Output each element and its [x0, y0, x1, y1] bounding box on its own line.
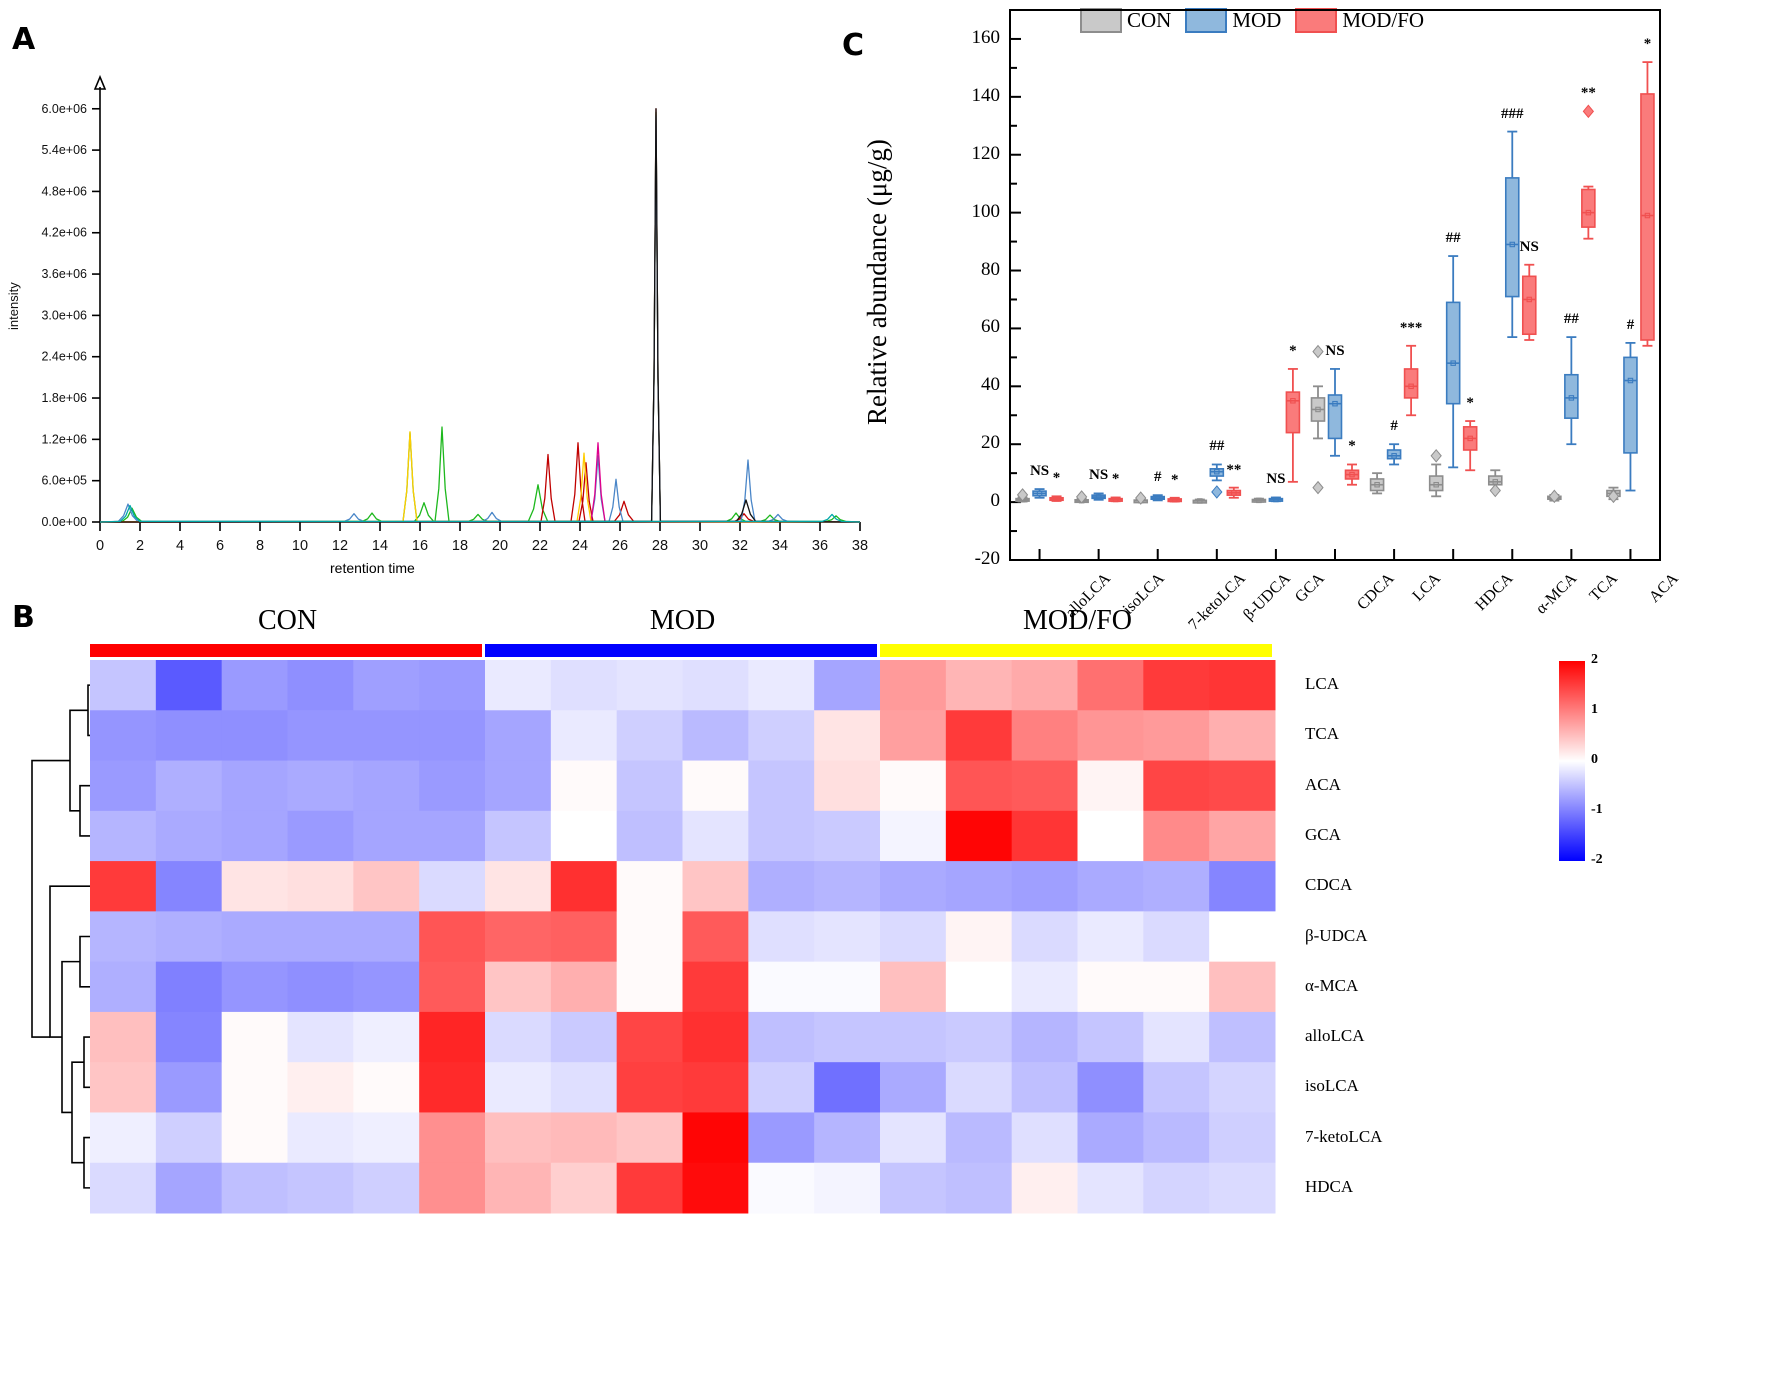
panel-b-group-bar-CON [90, 644, 482, 657]
panel-b-letter: B [12, 600, 35, 635]
panel-b-heat-cell [551, 761, 617, 812]
panel-b-heat-cell [551, 962, 617, 1013]
panel-a-ytick-label: 3.6e+06 [41, 267, 87, 281]
panel-b-heat-cell [1078, 911, 1144, 962]
panel-b-heat-cell [946, 761, 1012, 812]
panel-b-heat-cell [1209, 1062, 1275, 1113]
panel-b-heat-cell [683, 660, 749, 711]
panel-b-heat-cell [617, 1112, 683, 1163]
panel-b-heat-cell [156, 710, 222, 761]
panel-b-colorbar [1555, 655, 1695, 885]
panel-b-heat-cell [353, 861, 419, 912]
panel-b-heat-cell [1078, 962, 1144, 1013]
panel-b-heat-cell [353, 1112, 419, 1163]
panel-b-colorbar-gradient [1559, 661, 1585, 861]
panel-b-heat-cell [683, 911, 749, 962]
panel-a-xtick-label: 30 [692, 538, 708, 554]
panel-b-heat-cell [551, 911, 617, 962]
panel-b-heat-cell [222, 911, 288, 962]
panel-c-significance-MOD-FO-HDCA: * [1450, 395, 1490, 412]
panel-b-colorbar-tick: 0 [1591, 752, 1598, 768]
panel-a-trace-trace-teal [100, 506, 860, 523]
panel-b-heat-cell [485, 911, 551, 962]
panel-b-heat-cell [946, 962, 1012, 1013]
panel-b-heat-cell [485, 861, 551, 912]
panel-b-heat-cell [419, 660, 485, 711]
panel-b-heat-cell [814, 1012, 880, 1063]
panel-b-heat-cell [748, 660, 814, 711]
panel-b-colorbar-tick: -2 [1591, 852, 1603, 868]
panel-a-xtick-label: 26 [612, 538, 628, 554]
panel-a-ytick-label: 1.2e+06 [41, 432, 87, 446]
panel-b-heat-cell [1012, 710, 1078, 761]
panel-b-heat-cell [222, 1012, 288, 1063]
panel-b-heat-cell [814, 962, 880, 1013]
panel-a-xtick-label: 16 [412, 538, 428, 554]
panel-b-heat-cell [419, 1012, 485, 1063]
panel-c-significance-MOD-FO-α-MCA: NS [1509, 239, 1549, 256]
panel-b-heat-cell [551, 1112, 617, 1163]
panel-b-heat-cell [946, 660, 1012, 711]
panel-b-heat-cell [1143, 1112, 1209, 1163]
panel-b-heat-cell [1143, 911, 1209, 962]
panel-b-heat-cell [1209, 962, 1275, 1013]
panel-b-heat-cell [353, 761, 419, 812]
panel-b-heat-cell [288, 660, 354, 711]
panel-b-heat-cell [551, 660, 617, 711]
panel-b-colorbar-tick: -1 [1591, 802, 1603, 818]
panel-a-xtick-label: 38 [852, 538, 868, 554]
panel-a-ytick-label: 4.8e+06 [41, 184, 87, 198]
panel-b-heat-cell [551, 1163, 617, 1214]
panel-b-heat-cell [814, 660, 880, 711]
panel-b-heat-cell [814, 811, 880, 862]
panel-b-group-label-MOD: MOD [485, 605, 880, 637]
panel-b-heat-cell [222, 1163, 288, 1214]
panel-b-heat-cell [946, 1012, 1012, 1063]
panel-b-heat-cell [90, 861, 156, 912]
panel-b-heat-cell [1143, 811, 1209, 862]
panel-b-heat-cell [880, 861, 946, 912]
panel-b-heat-cell [485, 660, 551, 711]
panel-b-heat-cell [419, 761, 485, 812]
panel-c-significance-MOD-HDCA: ## [1433, 230, 1473, 247]
panel-b-heat-cell [90, 660, 156, 711]
panel-a-xtick-label: 34 [772, 538, 788, 554]
panel-b-heat-cell [683, 1112, 749, 1163]
panel-b-group-label-CON: CON [90, 605, 485, 637]
panel-b-heat-cell [90, 761, 156, 812]
panel-a-trace-trace-green [100, 112, 860, 522]
panel-b-heat-cell [485, 710, 551, 761]
panel-c-significance-MOD-FO-GCA: * [1273, 343, 1313, 360]
panel-b-heat-cell [683, 811, 749, 862]
panel-b-heat-cell [1012, 1062, 1078, 1113]
panel-b-heat-cell [617, 1062, 683, 1113]
panel-b-colorbar-tick: 2 [1591, 652, 1598, 668]
panel-a-ytick-label: 0.0e+00 [41, 515, 87, 529]
panel-b-heat-cell [419, 1163, 485, 1214]
panel-a-ytick-label: 1.8e+06 [41, 391, 87, 405]
panel-c-significance-MOD-FO-TCA: ** [1568, 85, 1608, 102]
panel-a-xtick-label: 18 [452, 538, 468, 554]
panel-a-xtick-label: 20 [492, 538, 508, 554]
panel-c-significance-MOD-FO-LCA: *** [1391, 320, 1431, 337]
panel-a-plot: 0.0e+006.0e+051.2e+061.8e+062.4e+063.0e+… [0, 0, 890, 600]
panel-b-heat-cell [353, 1163, 419, 1214]
panel-b-heat-cell [1012, 811, 1078, 862]
panel-b-heat-cell [1143, 710, 1209, 761]
panel-b-heat-cell [1209, 1163, 1275, 1214]
panel-b-heat-cell [1209, 660, 1275, 711]
panel-b-heat-cell [880, 1062, 946, 1113]
panel-a-xtick-label: 8 [256, 538, 264, 554]
panel-b-heat-cell [748, 962, 814, 1013]
panel-b-heat-cell [485, 761, 551, 812]
panel-b-heat-cell [880, 962, 946, 1013]
panel-b-heat-cell [748, 1163, 814, 1214]
panel-b-heat-cell [485, 811, 551, 862]
panel-b-heat-cell [946, 861, 1012, 912]
panel-b-heat-cell [90, 911, 156, 962]
panel-c-annotations: NS*NS*#*##**NS*NS*#***##*###NS##**#* [900, 0, 1772, 600]
panel-b-heat-cell [90, 1062, 156, 1113]
panel-b-heat-cell [156, 660, 222, 711]
panel-b-heat-cell [683, 1012, 749, 1063]
panel-b-heat-cell [1078, 811, 1144, 862]
panel-b-heat-cell [1209, 811, 1275, 862]
panel-b-heat-cell [814, 761, 880, 812]
panel-b-heat-cell [156, 861, 222, 912]
panel-b-heat-cell [90, 1163, 156, 1214]
panel-b-row-label: β-UDCA [1305, 926, 1367, 946]
panel-b-heat-cell [1143, 1062, 1209, 1113]
panel-b-heat-cell [419, 811, 485, 862]
panel-b-heat-cell [485, 1062, 551, 1113]
panel-b-heat-cell [814, 710, 880, 761]
panel-b-heat-cell [485, 1112, 551, 1163]
panel-b-heat-cell [814, 1163, 880, 1214]
panel-a-ytick-label: 6.0e+05 [41, 474, 87, 488]
panel-c-significance-MOD-FO-isoLCA: * [1096, 471, 1136, 488]
panel-c-significance-MOD-β-UDCA: ## [1197, 438, 1237, 455]
panel-b-row-label: isoLCA [1305, 1076, 1359, 1096]
panel-b-heat-cell [946, 1163, 1012, 1214]
panel-b-heat-cell [156, 1112, 222, 1163]
panel-a-xtick-label: 4 [176, 538, 184, 554]
panel-b-heat-cell [880, 1112, 946, 1163]
panel-b-row-label: CDCA [1305, 875, 1352, 895]
panel-b-heat-cell [880, 911, 946, 962]
panel-c-significance-MOD-FO-7-ketoLCA: * [1155, 472, 1195, 489]
panel-b-heat-cell [222, 1062, 288, 1113]
panel-c-ylabel: Relative abundance (μg/g) [862, 139, 893, 425]
panel-b-heat-cell [1209, 1112, 1275, 1163]
panel-b-heat-cell [222, 761, 288, 812]
panel-b-heat-cell [1143, 962, 1209, 1013]
panel-b-heat-cell [156, 962, 222, 1013]
panel-b-heat-cell [1143, 1012, 1209, 1063]
panel-b-heat-cell [288, 962, 354, 1013]
panel-b-heat-cell [1209, 861, 1275, 912]
panel-a-xtick-label: 14 [372, 538, 388, 554]
panel-b-heat-cell [156, 911, 222, 962]
panel-b-heat-cell [617, 761, 683, 812]
panel-a-xtick-label: 22 [532, 538, 548, 554]
panel-b-heat-cell [748, 911, 814, 962]
panel-a-xtick-label: 24 [572, 538, 588, 554]
panel-b-heat-cell [1012, 911, 1078, 962]
panel-b-heat-cell [617, 1163, 683, 1214]
panel-b-heat-cell [1012, 660, 1078, 711]
panel-b-heat-cell [1012, 1163, 1078, 1214]
panel-b-heat-cell [683, 1163, 749, 1214]
panel-a-ytick-label: 3.0e+06 [41, 308, 87, 322]
panel-b-heat-cell [419, 1062, 485, 1113]
panel-a: A intensity 0.0e+006.0e+051.2e+061.8e+06… [0, 0, 890, 600]
panel-b-row-label: HDCA [1305, 1177, 1353, 1197]
panel-c: C Relative abundance (μg/g) CONMODMOD/FO… [900, 0, 1772, 600]
panel-a-ytick-label: 4.2e+06 [41, 226, 87, 240]
panel-b-heat-cell [222, 962, 288, 1013]
panel-c-significance-MOD-FO-β-UDCA: ** [1214, 462, 1254, 479]
panel-c-significance-MOD-LCA: # [1374, 418, 1414, 435]
panel-b-heat-cell [288, 710, 354, 761]
panel-b-heat-cell [617, 962, 683, 1013]
panel-b-heat-cell [353, 1062, 419, 1113]
panel-c-significance-MOD-FO-alloLCA: * [1037, 470, 1077, 487]
panel-b-heat-cell [1012, 861, 1078, 912]
panel-b-heatmap [90, 660, 1300, 1220]
panel-b-heat-cell [90, 710, 156, 761]
panel-b-heat-cell [880, 811, 946, 862]
panel-a-xtick-label: 0 [96, 538, 104, 554]
panel-c-significance-MOD-GCA: NS [1256, 471, 1296, 488]
panel-b-group-bar-MOD-FO [880, 644, 1272, 657]
panel-b-heat-cell [288, 1163, 354, 1214]
panel-b-heat-cell [485, 1163, 551, 1214]
panel-b-heat-cell [946, 811, 1012, 862]
panel-b-heat-cell [90, 1012, 156, 1063]
panel-b-heat-cell [1209, 1012, 1275, 1063]
panel-c-significance-MOD-FO-ACA: * [1627, 36, 1667, 53]
panel-a-trace-trace-red [100, 109, 860, 522]
panel-b-heat-cell [551, 861, 617, 912]
panel-b-dendro-link [32, 761, 70, 1037]
panel-b-heat-cell [551, 811, 617, 862]
panel-c-significance-MOD-α-MCA: ### [1492, 106, 1532, 123]
panel-a-xtick-label: 2 [136, 538, 144, 554]
panel-b-heat-cell [1012, 1112, 1078, 1163]
panel-b-group-label-MOD-FO: MOD/FO [880, 605, 1275, 637]
panel-b-heat-cell [683, 710, 749, 761]
panel-b-heat-cell [1209, 761, 1275, 812]
panel-b-heat-cell [1012, 761, 1078, 812]
panel-a-xtick-label: 12 [332, 538, 348, 554]
panel-b-heat-cell [222, 1112, 288, 1163]
panel-b-heat-cell [1143, 861, 1209, 912]
panel-b-heat-cell [353, 660, 419, 711]
panel-a-xtick-label: 32 [732, 538, 748, 554]
panel-b-heat-cell [1209, 710, 1275, 761]
panel-b-heat-cell [419, 861, 485, 912]
panel-b-heat-cell [617, 861, 683, 912]
panel-b-heat-cell [1078, 1062, 1144, 1113]
panel-b-heat-cell [222, 660, 288, 711]
panel-c-significance-MOD-FO-CDCA: * [1332, 438, 1372, 455]
panel-b-heat-cell [353, 811, 419, 862]
panel-b-heat-cell [1078, 1112, 1144, 1163]
panel-b-dendro-link [62, 962, 80, 1113]
panel-b-heat-cell [748, 1112, 814, 1163]
panel-b-heat-cell [814, 911, 880, 962]
panel-b-row-label: α-MCA [1305, 976, 1358, 996]
panel-b-heat-cell [156, 811, 222, 862]
panel-b-heat-cell [946, 1112, 1012, 1163]
panel-b-colorbar-tick: 1 [1591, 702, 1598, 718]
panel-b-heat-cell [880, 1012, 946, 1063]
panel-b-heat-cell [156, 1012, 222, 1063]
panel-b-heat-cell [748, 761, 814, 812]
panel-b-heat-cell [288, 861, 354, 912]
panel-b-heat-cell [419, 1112, 485, 1163]
panel-b-heat-cell [683, 761, 749, 812]
panel-b-heat-cell [288, 1012, 354, 1063]
panel-b-heat-cell [748, 710, 814, 761]
panel-a-xtick-label: 6 [216, 538, 224, 554]
panel-b-heat-cell [1078, 1163, 1144, 1214]
panel-c-significance-MOD-TCA: ## [1551, 311, 1591, 328]
panel-b-heat-cell [617, 811, 683, 862]
panel-b-heat-cell [814, 1062, 880, 1113]
panel-b-heat-cell [1078, 1012, 1144, 1063]
panel-b-heat-cell [222, 861, 288, 912]
panel-b-heat-cell [222, 710, 288, 761]
panel-b-heat-cell [880, 710, 946, 761]
panel-b-heat-cell [156, 1062, 222, 1113]
panel-a-xtick-label: 28 [652, 538, 668, 554]
panel-b-heat-cell [683, 962, 749, 1013]
panel-a-ytick-label: 2.4e+06 [41, 350, 87, 364]
panel-a-trace-trace-black [100, 109, 860, 522]
panel-b-heat-cell [419, 962, 485, 1013]
panel-c-significance-MOD-CDCA: NS [1315, 343, 1355, 360]
panel-b-heat-cell [288, 911, 354, 962]
panel-b-heat-cell [748, 1062, 814, 1113]
panel-b-heat-cell [748, 1012, 814, 1063]
panel-a-trace-trace-blue [100, 116, 860, 522]
panel-a-ytick-label: 5.4e+06 [41, 143, 87, 157]
panel-b-heat-cell [946, 1062, 1012, 1113]
panel-b-heat-cell [288, 761, 354, 812]
panel-b-heat-cell [419, 710, 485, 761]
panel-c-significance-MOD-ACA: # [1610, 317, 1650, 334]
panel-b-heat-cell [1143, 1163, 1209, 1214]
panel-b-heat-cell [288, 1062, 354, 1113]
panel-b-heat-cell [90, 811, 156, 862]
panel-b-row-label: alloLCA [1305, 1026, 1365, 1046]
panel-a-xtick-label: 36 [812, 538, 828, 554]
panel-b-heat-cell [1143, 660, 1209, 711]
panel-b-heat-cell [353, 1012, 419, 1063]
panel-b-heat-cell [1078, 710, 1144, 761]
panel-b-heat-cell [353, 710, 419, 761]
panel-b-heat-cell [1209, 911, 1275, 962]
panel-b-group-bar-MOD [485, 644, 877, 657]
panel-a-xlabel: retention time [330, 560, 415, 576]
panel-b-heat-cell [353, 962, 419, 1013]
panel-b-heat-cell [617, 1012, 683, 1063]
panel-b-heat-cell [1078, 861, 1144, 912]
panel-b-heat-cell [1012, 962, 1078, 1013]
panel-b-heat-cell [946, 911, 1012, 962]
panel-b-heat-cell [683, 861, 749, 912]
panel-b-row-label: GCA [1305, 825, 1341, 845]
panel-b-heat-cell [683, 1062, 749, 1113]
panel-b-dendro-link [70, 710, 88, 811]
panel-b-heat-cell [748, 861, 814, 912]
panel-a-trace-trace-yellow [100, 432, 860, 522]
panel-b-heat-cell [1078, 761, 1144, 812]
panel-b-heat-cell [880, 761, 946, 812]
panel-a-xtick-label: 10 [292, 538, 308, 554]
panel-b-heat-cell [419, 911, 485, 962]
panel-b-heat-cell [880, 660, 946, 711]
panel-b-heat-cell [946, 710, 1012, 761]
panel-b-heat-cell [90, 1112, 156, 1163]
panel-b-heat-cell [1012, 1012, 1078, 1063]
panel-b-heat-cell [1143, 761, 1209, 812]
panel-a-ytick-label: 6.0e+06 [41, 102, 87, 116]
panel-b: B CONMODMOD/FO LCATCAACAGCACDCAβ-UDCAα-M… [0, 600, 1772, 1385]
panel-b-heat-cell [353, 911, 419, 962]
panel-b-heat-cell [485, 1012, 551, 1063]
panel-b-heat-cell [551, 710, 617, 761]
panel-b-heat-cell [288, 811, 354, 862]
panel-b-heat-cell [814, 861, 880, 912]
panel-b-heat-cell [748, 811, 814, 862]
panel-b-heat-cell [880, 1163, 946, 1214]
panel-b-heat-cell [1078, 660, 1144, 711]
panel-b-heat-cell [617, 660, 683, 711]
panel-b-heat-cell [617, 710, 683, 761]
panel-c-letter: C [842, 28, 864, 63]
panel-b-heat-cell [90, 962, 156, 1013]
panel-b-heat-cell [814, 1112, 880, 1163]
panel-b-row-label: TCA [1305, 724, 1339, 744]
panel-b-row-label: 7-ketoLCA [1305, 1127, 1382, 1147]
panel-b-heat-cell [288, 1112, 354, 1163]
panel-b-row-label: ACA [1305, 775, 1341, 795]
panel-b-dendro-link [72, 1062, 84, 1163]
panel-b-heat-cell [551, 1012, 617, 1063]
panel-b-heat-cell [485, 962, 551, 1013]
panel-b-heat-cell [617, 911, 683, 962]
panel-b-heat-cell [222, 811, 288, 862]
panel-b-heat-cell [551, 1062, 617, 1113]
panel-b-heat-cell [156, 1163, 222, 1214]
panel-b-heat-cell [156, 761, 222, 812]
panel-b-row-label: LCA [1305, 674, 1339, 694]
